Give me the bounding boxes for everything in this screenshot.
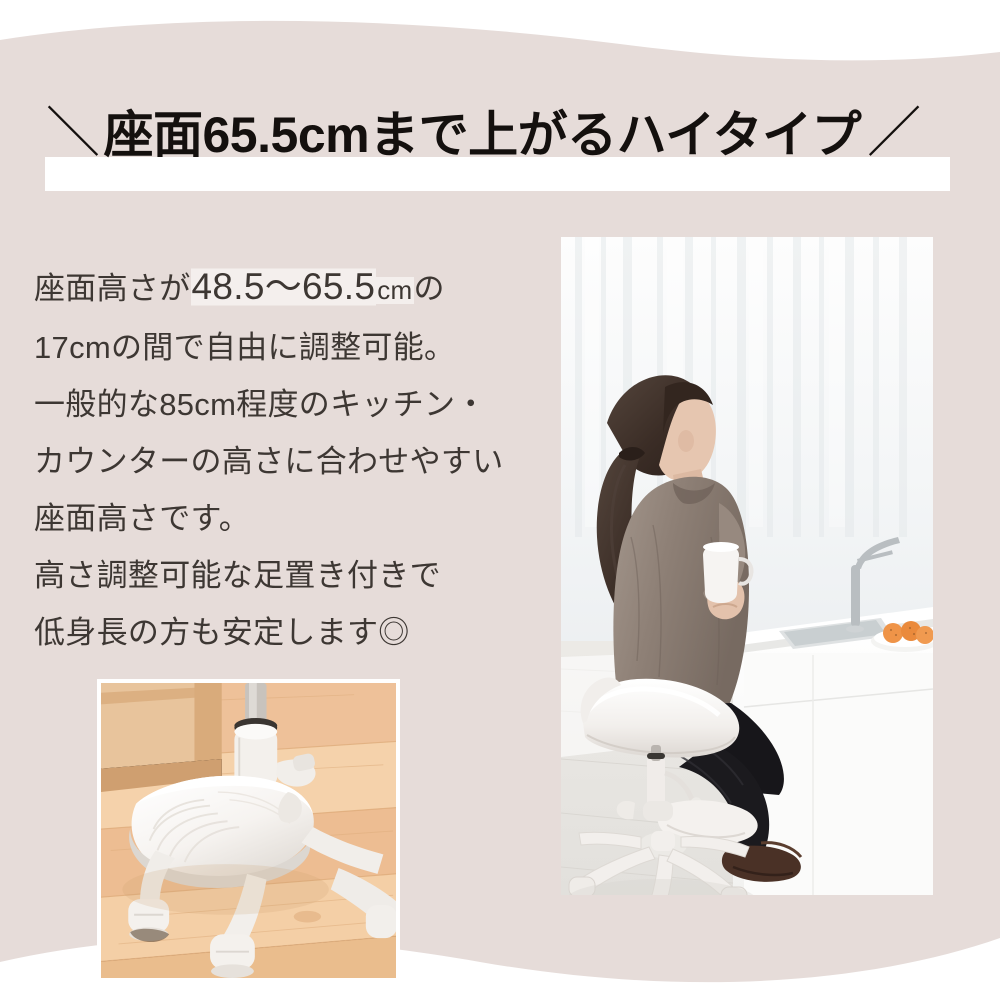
headline-label: 座面65.5cmまで上がるハイタイプ <box>104 110 862 160</box>
promo-page: ＼ 座面65.5cmまで上がるハイタイプ ／ 座面高さが48.5〜65.5cmの… <box>0 0 1000 1000</box>
seat-height-range-unit: cm <box>376 275 413 305</box>
headline-slash-right-icon: ／ <box>867 106 921 160</box>
body-line-1: 座面高さが48.5〜65.5cmの <box>34 258 534 319</box>
headline-slash-left-icon: ＼ <box>46 106 100 160</box>
body-line-1-prefix: 座面高さが <box>34 271 191 306</box>
body-line-3: 一般的な85cm程度のキッチン・ <box>34 376 534 433</box>
body-line-4: カウンターの高さに合わせやすい <box>34 433 534 490</box>
body-line-7: 低身長の方も安定します◎ <box>34 604 534 661</box>
detail-photo-footrest <box>97 679 400 982</box>
seat-height-range-value: 48.5〜65.5 <box>191 266 377 307</box>
body-line-1-suffix: の <box>414 271 445 306</box>
body-line-6: 高さ調整可能な足置き付きで <box>34 547 534 604</box>
body-line-2: 17cmの間で自由に調整可能。 <box>34 319 534 376</box>
body-copy: 座面高さが48.5〜65.5cmの 17cmの間で自由に調整可能。 一般的な85… <box>34 258 534 661</box>
headline-text-row: ＼ 座面65.5cmまで上がるハイタイプ ／ <box>46 100 966 170</box>
body-line-5: 座面高さです。 <box>34 490 534 547</box>
lifestyle-photo-main <box>561 237 933 895</box>
headline: ＼ 座面65.5cmまで上がるハイタイプ ／ <box>0 100 1000 200</box>
